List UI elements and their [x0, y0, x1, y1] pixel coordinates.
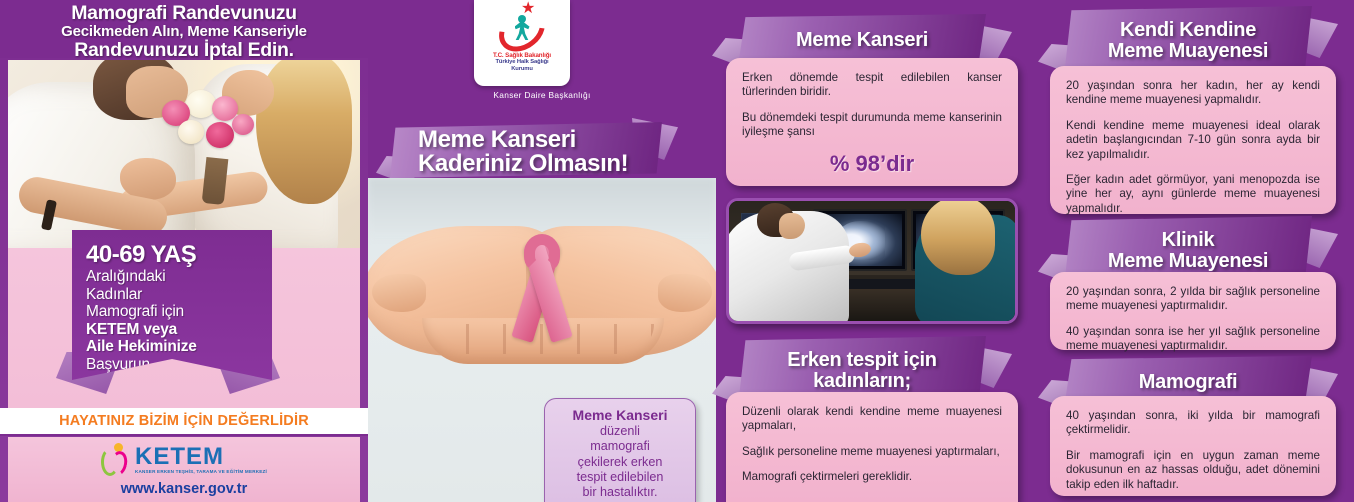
patient-hair [921, 198, 995, 275]
erken-tespit-para3: Mamografi çektirmeleri gereklidir. [742, 470, 1002, 484]
ministry-caption: Kanser Daire Başkanlığı [368, 90, 716, 100]
ministry-line1: T.C. Sağlık Bakanlığı [493, 52, 551, 59]
flower-white-2 [178, 120, 204, 144]
note-line3: çekilerek erken [555, 455, 685, 470]
ketem-logo: KETEM KANSER ERKEN TEŞHİS, TARAMA VE EĞİ… [101, 443, 267, 477]
erken-tespit-card: Düzenli olarak kendi kendine meme muayen… [726, 392, 1018, 502]
banner-line2: kadınların; [813, 371, 911, 392]
kendi-kendine-para2: Kendi kendine meme muayenesi ideal olara… [1066, 119, 1320, 162]
banner-line2: Meme Muayenesi [1108, 251, 1268, 272]
person-body [515, 22, 530, 40]
ministry-line2: Türkiye Halk Sağlığı [495, 59, 548, 66]
middle-panel: ★ T.C. Sağlık Bakanlığı Türkiye Halk Sağ… [368, 0, 716, 502]
kendi-kendine-para1: 20 yaşından sonra her kadın, her ay kend… [1066, 79, 1320, 108]
meme-kanseri-card: Erken dönemde tespit edilebilen kanser t… [726, 58, 1018, 186]
banner-line2: Kaderiniz Olmasın! [418, 152, 628, 176]
banner-line1: Kendi Kendine [1120, 20, 1256, 41]
person-figure-icon [513, 15, 531, 41]
person-head [518, 15, 526, 23]
doctor-showing-mammogram-to-patient-photo: R L [726, 198, 1018, 324]
erken-tespit-para2: Sağlık personeline meme muayenesi yaptır… [742, 445, 1002, 459]
note-line5: bir hastalıktır. [555, 485, 685, 500]
age-card-line3: Mamografi için [86, 303, 272, 321]
mamografi-card: 40 yaşından sonra, iki yılda bir mamogra… [1050, 396, 1336, 496]
left-thumb [372, 274, 426, 312]
mamografi-para1: 40 yaşından sonra, iki yılda bir mamogra… [1066, 409, 1320, 438]
left-headline-line3: Randevunuzu İptal Edin. [0, 40, 368, 60]
left-headline: Mamografi Randevunuzu Gecikmeden Alın, M… [0, 0, 368, 58]
middle-title-banner: Meme Kanseri Kaderiniz Olmasın! [390, 116, 662, 178]
age-range-card: 40-69 YAŞ Aralığındaki Kadınlar Mamograf… [72, 230, 272, 380]
left-headline-line1: Mamografi Randevunuzu [0, 3, 368, 23]
klinik-para2: 40 yaşından sonra ise her yıl sağlık per… [1066, 325, 1320, 354]
middle-note-card: Meme Kanseri düzenli mamografi çekilerek… [544, 398, 696, 502]
slogan-text: HAYATINIZ BİZİM İÇİN DEĞERLİDİR [59, 413, 309, 429]
pink-ribbon-icon [510, 238, 574, 350]
flower-magenta [206, 122, 234, 148]
banner-line1: Erken tespit için [787, 350, 936, 371]
photo-room: R L [729, 201, 1015, 321]
left-headline-line2: Gecikmeden Alın, Meme Kanseriyle [0, 23, 368, 40]
photo-blur-top [368, 178, 716, 238]
erken-tespit-para1: Düzenli olarak kendi kendine meme muayen… [742, 405, 1002, 434]
meme-kanseri-para1: Erken dönemde tespit edilebilen kanser t… [742, 71, 1002, 100]
age-card-line5: Aile Hekiminize [86, 338, 272, 356]
age-range-title: 40-69 YAŞ [86, 242, 272, 268]
ministry-of-health-logo: ★ T.C. Sağlık Bakanlığı Türkiye Halk Sağ… [474, 0, 570, 86]
note-title: Meme Kanseri [555, 407, 685, 424]
flower-bouquet [156, 86, 268, 172]
ketem-wordmark: KETEM [135, 445, 267, 469]
banner-line1: Klinik [1162, 230, 1215, 251]
banner-line1: Meme Kanseri [796, 30, 928, 51]
flower-pink-3 [232, 114, 254, 135]
ketem-figure-icon [101, 443, 131, 477]
ministry-emblem-icon: ★ [491, 5, 553, 51]
couple-with-flowers-photo [8, 60, 360, 250]
age-card-line4: KETEM veya [86, 321, 272, 339]
slogan-band: HAYATINIZ BİZİM İÇİN DEĞERLİDİR [0, 408, 368, 434]
kendi-kendine-card: 20 yaşından sonra her kadın, her ay kend… [1050, 66, 1336, 214]
slogan-divider [0, 434, 368, 436]
note-line1: düzenli [555, 424, 685, 439]
flower-white [186, 90, 216, 118]
mamografi-para2: Bir mamografi için en uygun zaman meme d… [1066, 449, 1320, 492]
ribbon-loop [524, 234, 560, 272]
ministry-line3: Kurumu [511, 66, 533, 73]
banner-line1: Meme Kanseri [418, 128, 628, 152]
poster-root: Mamografi Randevunuzu Gecikmeden Alın, M… [0, 0, 1354, 502]
note-line4: tespit edilebilen [555, 470, 685, 485]
survival-rate-highlight: % 98’dir [742, 151, 1002, 177]
note-line2: mamografi [555, 439, 685, 454]
banner-line1: Mamografi [1139, 372, 1237, 393]
ketem-footer: KETEM KANSER ERKEN TEŞHİS, TARAMA VE EĞİ… [8, 437, 360, 502]
kendi-kendine-para3: Eğer kadın adet görmüyor, yani menopozda… [1066, 173, 1320, 216]
age-card-line2: Kadınlar [86, 286, 272, 304]
meme-kanseri-para2: Bu dönemdeki tespit durumunda meme kanse… [742, 111, 1002, 140]
age-card-line1: Aralığındaki [86, 268, 272, 286]
left-panel: Mamografi Randevunuzu Gecikmeden Alın, M… [0, 0, 368, 502]
banner-text: Meme Kanseri Kaderiniz Olmasın! [418, 128, 628, 176]
klinik-card: 20 yaşından sonra, 2 yılda bir sağlık pe… [1050, 272, 1336, 350]
klinik-para1: 20 yaşından sonra, 2 yılda bir sağlık pe… [1066, 285, 1320, 314]
ketem-url[interactable]: www.kanser.gov.tr [121, 481, 248, 497]
banner-line2: Meme Muayenesi [1108, 41, 1268, 62]
ketem-subtitle: KANSER ERKEN TEŞHİS, TARAMA VE EĞİTİM ME… [135, 469, 267, 474]
right-column-b: Kendi Kendine Meme Muayenesi 20 yaşından… [1036, 0, 1354, 502]
